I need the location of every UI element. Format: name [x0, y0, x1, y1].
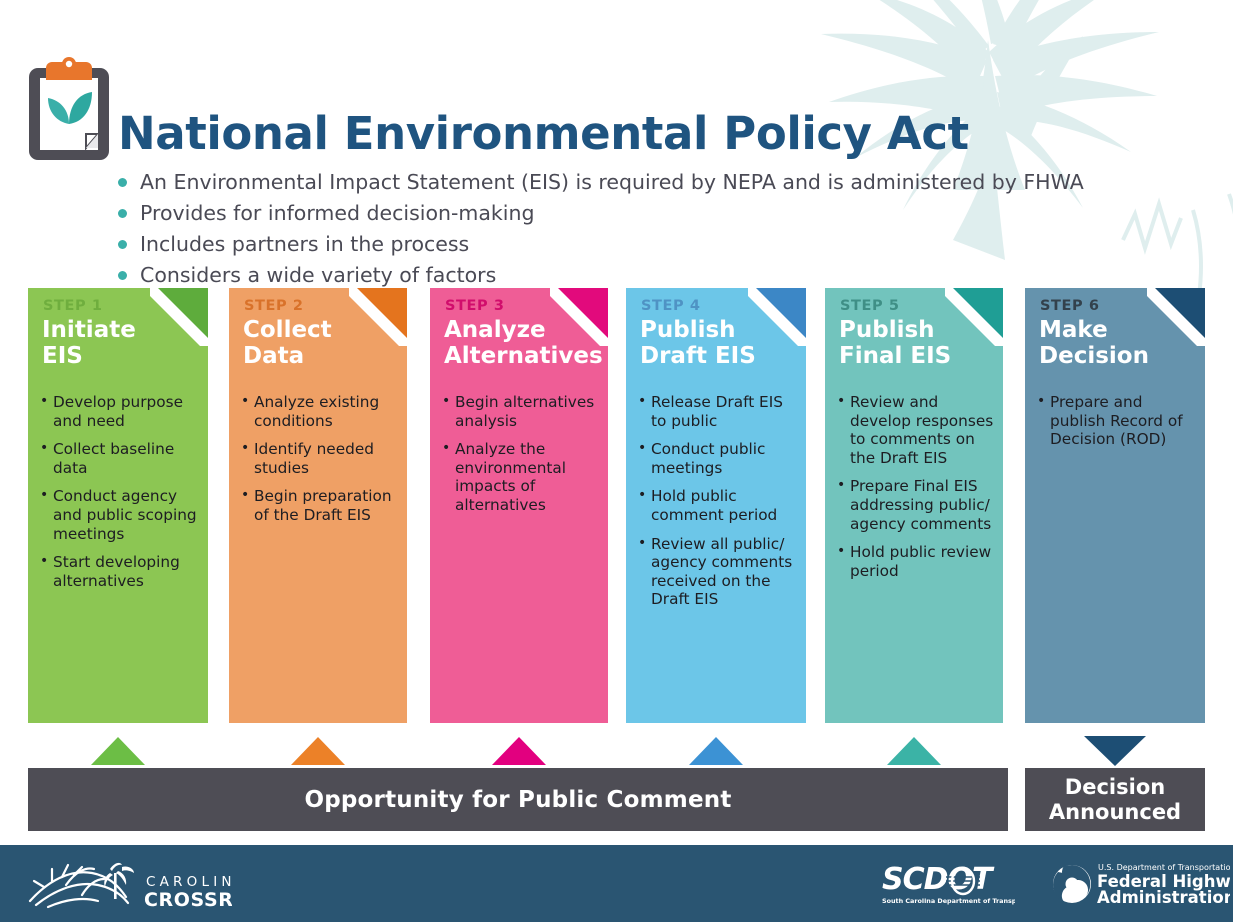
step-title: InitiateEIS — [42, 317, 202, 369]
step-title-line2: Data — [243, 343, 403, 369]
step-item-list: Prepare and publish Record of Decision (… — [1037, 393, 1199, 459]
header-bullet-item: Provides for informed decision-making — [118, 199, 1168, 228]
step-item: Conduct agency and public scoping meetin… — [40, 487, 202, 543]
step-arrow-2 — [291, 737, 345, 765]
header-bullet-text: Considers a wide variety of factors — [140, 261, 496, 290]
step-column-6: STEP 6MakeDecisionPrepare and publish Re… — [1025, 288, 1205, 723]
step-item: Begin alternatives analysis — [442, 393, 604, 430]
step-column-2: STEP 2CollectDataAnalyze existing condit… — [229, 288, 407, 723]
step-number-label: STEP 3 — [445, 298, 505, 314]
step-title-line1: Make — [1039, 317, 1199, 343]
step-item: Review all public/ agency comments recei… — [638, 535, 800, 609]
step-item: Hold public review period — [837, 543, 999, 580]
step-title-line1: Initiate — [42, 317, 202, 343]
step-number-label: STEP 5 — [840, 298, 900, 314]
scdot-logo: SCDOT South Carolina Department of Trans… — [880, 859, 1015, 909]
step-arrow-1 — [91, 737, 145, 765]
scdot-acronym: SCDOT — [882, 862, 995, 897]
decision-label-line1: Decision — [1065, 775, 1165, 800]
scdot-subtitle: South Carolina Department of Transportat… — [882, 897, 1015, 905]
step-item: Develop purpose and need — [40, 393, 202, 430]
step-title: AnalyzeAlternatives — [444, 317, 604, 369]
step-item: Begin preparation of the Draft EIS — [241, 487, 403, 524]
step-column-3: STEP 3AnalyzeAlternativesBegin alternati… — [430, 288, 608, 723]
step-item-list: Release Draft EIS to publicConduct publi… — [638, 393, 800, 619]
step-item-list: Analyze existing conditionsIdentify need… — [241, 393, 403, 535]
step-item: Prepare and publish Record of Decision (… — [1037, 393, 1199, 449]
page-footer: CAROLINA CROSSROADS SCDOT South Carolina… — [0, 845, 1233, 922]
step-item: Collect baseline data — [40, 440, 202, 477]
carolina-crossroads-logo: CAROLINA CROSSROADS — [22, 855, 232, 913]
header-bullet-item: Considers a wide variety of factors — [118, 261, 1168, 290]
step-title-line2: Decision — [1039, 343, 1199, 369]
bullet-dot-icon — [118, 209, 127, 218]
fhwa-logo: U.S. Department of Transportation Federa… — [1050, 858, 1230, 910]
header-bullet-text: An Environmental Impact Statement (EIS) … — [140, 168, 1084, 197]
carolina-line1: CAROLINA — [146, 874, 232, 890]
step-item: Identify needed studies — [241, 440, 403, 477]
step-title-line1: Analyze — [444, 317, 604, 343]
header-bullet-item: An Environmental Impact Statement (EIS) … — [118, 168, 1168, 197]
decision-label-line2: Announced — [1049, 800, 1181, 825]
step-title-line1: Collect — [243, 317, 403, 343]
header-bullet-item: Includes partners in the process — [118, 230, 1168, 259]
bullet-dot-icon — [118, 271, 127, 280]
step-column-4: STEP 4PublishDraft EISRelease Draft EIS … — [626, 288, 806, 723]
carolina-line2: CROSSROADS — [144, 889, 232, 911]
step-column-5: STEP 5PublishFinal EISReview and develop… — [825, 288, 1003, 723]
page-title: National Environmental Policy Act — [118, 107, 969, 160]
step-title-line2: EIS — [42, 343, 202, 369]
clipboard-leaf-icon — [28, 56, 110, 161]
step-item: Hold public comment period — [638, 487, 800, 524]
step-number-label: STEP 1 — [43, 298, 103, 314]
decision-announced-bar: Decision Announced — [1025, 768, 1205, 831]
step-title: CollectData — [243, 317, 403, 369]
header-bullet-text: Includes partners in the process — [140, 230, 469, 259]
fhwa-line3: Administration — [1097, 888, 1230, 907]
step-item-list: Review and develop responses to comments… — [837, 393, 999, 590]
step-arrow-4 — [689, 737, 743, 765]
bullet-dot-icon — [118, 178, 127, 187]
page-header: National Environmental Policy Act An Env… — [0, 0, 1233, 286]
step-title-line1: Publish — [839, 317, 999, 343]
step-title: PublishDraft EIS — [640, 317, 800, 369]
public-comment-bar: Opportunity for Public Comment — [28, 768, 1008, 831]
step-number-label: STEP 4 — [641, 298, 701, 314]
step-columns: STEP 1InitiateEISDevelop purpose and nee… — [0, 288, 1233, 728]
step-item: Release Draft EIS to public — [638, 393, 800, 430]
fhwa-line1: U.S. Department of Transportation — [1098, 863, 1230, 872]
header-bullet-list: An Environmental Impact Statement (EIS) … — [118, 168, 1168, 292]
step-arrow-5 — [887, 737, 941, 765]
step-title-line2: Draft EIS — [640, 343, 800, 369]
step-number-label: STEP 2 — [244, 298, 304, 314]
step-item: Review and develop responses to comments… — [837, 393, 999, 467]
step-arrow-6 — [1084, 736, 1146, 766]
step-item: Prepare Final EIS addressing public/ age… — [837, 477, 999, 533]
step-column-1: STEP 1InitiateEISDevelop purpose and nee… — [28, 288, 208, 723]
step-item: Conduct public meetings — [638, 440, 800, 477]
step-title-line2: Alternatives — [444, 343, 604, 369]
step-item-list: Begin alternatives analysisAnalyze the e… — [442, 393, 604, 525]
header-bullet-text: Provides for informed decision-making — [140, 199, 535, 228]
step-title-line1: Publish — [640, 317, 800, 343]
step-arrow-3 — [492, 737, 546, 765]
bullet-dot-icon — [118, 240, 127, 249]
step-title: PublishFinal EIS — [839, 317, 999, 369]
step-title: MakeDecision — [1039, 317, 1199, 369]
step-title-line2: Final EIS — [839, 343, 999, 369]
step-item: Start developing alternatives — [40, 553, 202, 590]
step-item: Analyze existing conditions — [241, 393, 403, 430]
step-number-label: STEP 6 — [1040, 298, 1100, 314]
public-comment-label: Opportunity for Public Comment — [304, 787, 731, 813]
step-item: Analyze the environmental impacts of alt… — [442, 440, 604, 514]
step-item-list: Develop purpose and needCollect baseline… — [40, 393, 202, 600]
